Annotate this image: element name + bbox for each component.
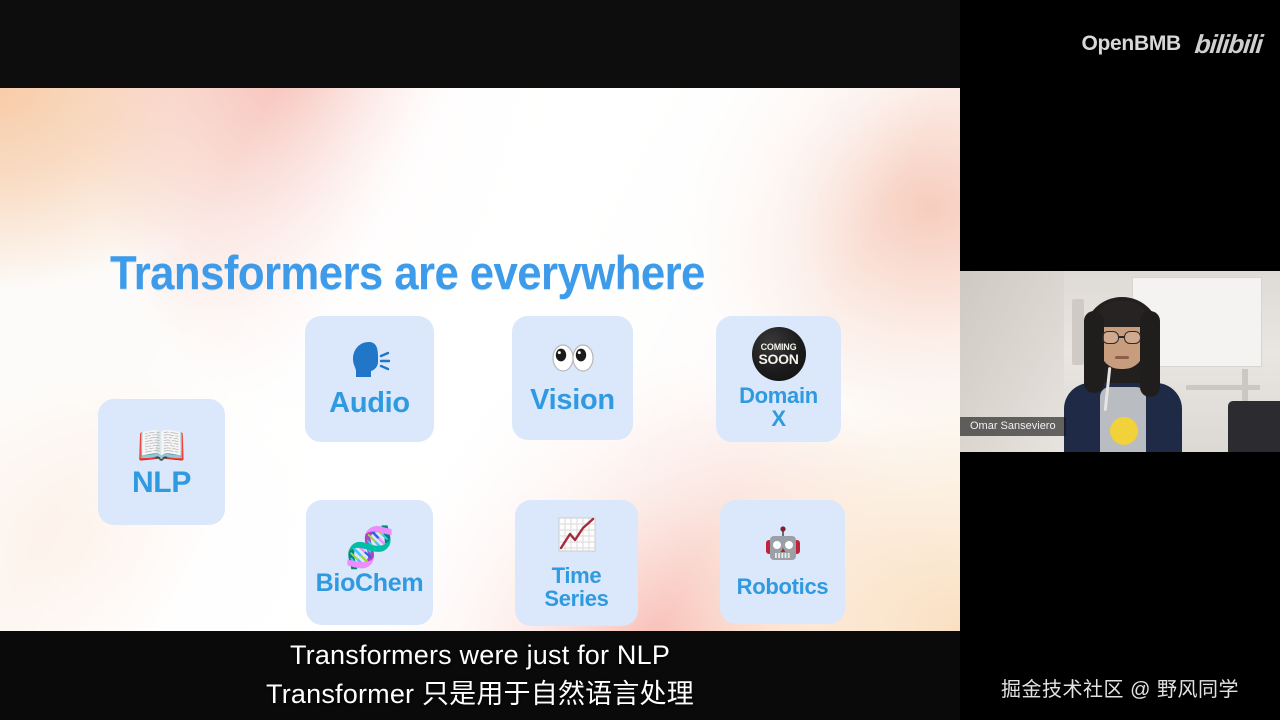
domain-card-label-biochem: BioChem	[316, 571, 424, 597]
background-bar	[1186, 385, 1260, 390]
subtitle-line-english: Transformers were just for NLP	[290, 640, 670, 671]
eyes-icon	[550, 340, 596, 383]
chart-increasing-icon	[556, 516, 598, 563]
domain-card-label-audio: Audio	[329, 389, 410, 419]
domain-card-time-series[interactable]: Time Series	[515, 500, 638, 626]
domain-card-nlp[interactable]: 📖 NLP	[98, 399, 225, 525]
share-top-letterbox	[0, 0, 960, 88]
domain-card-label-domain-x: Domain X	[739, 385, 818, 430]
screen-share-pane: Transformers are everywhere 📖 NLP Audio	[0, 0, 960, 720]
person-shirt-logo	[1110, 417, 1138, 445]
person-mouth	[1115, 356, 1129, 359]
domain-card-biochem[interactable]: 🧬 BioChem	[306, 500, 433, 625]
screen-root: Transformers are everywhere 📖 NLP Audio	[0, 0, 1280, 720]
dna-icon: 🧬	[345, 528, 395, 568]
domain-card-label-nlp: NLP	[132, 468, 191, 499]
domain-card-label-vision: Vision	[530, 386, 615, 416]
domain-card-robotics[interactable]: Robotics	[720, 500, 845, 624]
person-glasses-left-lens	[1102, 331, 1119, 344]
brand-bar: OpenBMB bilibili	[960, 0, 1280, 88]
presentation-slide: Transformers are everywhere 📖 NLP Audio	[0, 88, 960, 631]
person-hair-left	[1084, 311, 1104, 393]
webcam-tile[interactable]: Omar Sanseviero	[960, 263, 1280, 460]
domain-x-label-line1: Domain	[739, 383, 818, 408]
person-hair-right	[1140, 311, 1160, 397]
background-wall-strip	[1072, 299, 1084, 365]
participant-name-label: Omar Sanseviero	[960, 417, 1066, 436]
coming-soon-line2: SOON	[758, 352, 798, 366]
domain-card-label-robotics: Robotics	[737, 576, 829, 599]
bilibili-logo: bilibili	[1193, 29, 1263, 60]
coming-soon-badge-icon: COMING SOON	[752, 327, 806, 381]
person-glasses-right-lens	[1124, 331, 1141, 344]
watermark-text: 掘金技术社区 @ 野风同学	[960, 655, 1280, 720]
subtitle-line-chinese: Transformer 只是用于自然语言处理	[266, 672, 694, 711]
background-dark-object	[1228, 401, 1280, 452]
domain-card-vision[interactable]: Vision	[512, 316, 633, 440]
slide-title: Transformers are everywhere	[110, 245, 705, 300]
brand-name-openbmb: OpenBMB	[1081, 32, 1180, 56]
open-book-icon: 📖	[137, 426, 187, 466]
domain-card-audio[interactable]: Audio	[305, 316, 434, 442]
domain-card-domain-x[interactable]: COMING SOON Domain X	[716, 316, 841, 442]
time-series-label-line2: Series	[544, 586, 608, 611]
robot-icon	[761, 526, 805, 573]
domain-x-label-line2: X	[771, 406, 785, 431]
subtitle-overlay: Transformers were just for NLP Transform…	[0, 631, 960, 720]
domain-card-label-time-series: Time Series	[544, 565, 608, 610]
speaking-head-icon	[349, 340, 391, 387]
person-glasses-bridge	[1119, 336, 1124, 338]
time-series-label-line1: Time	[552, 563, 602, 588]
right-sidebar: OpenBMB bilibili	[960, 0, 1280, 720]
